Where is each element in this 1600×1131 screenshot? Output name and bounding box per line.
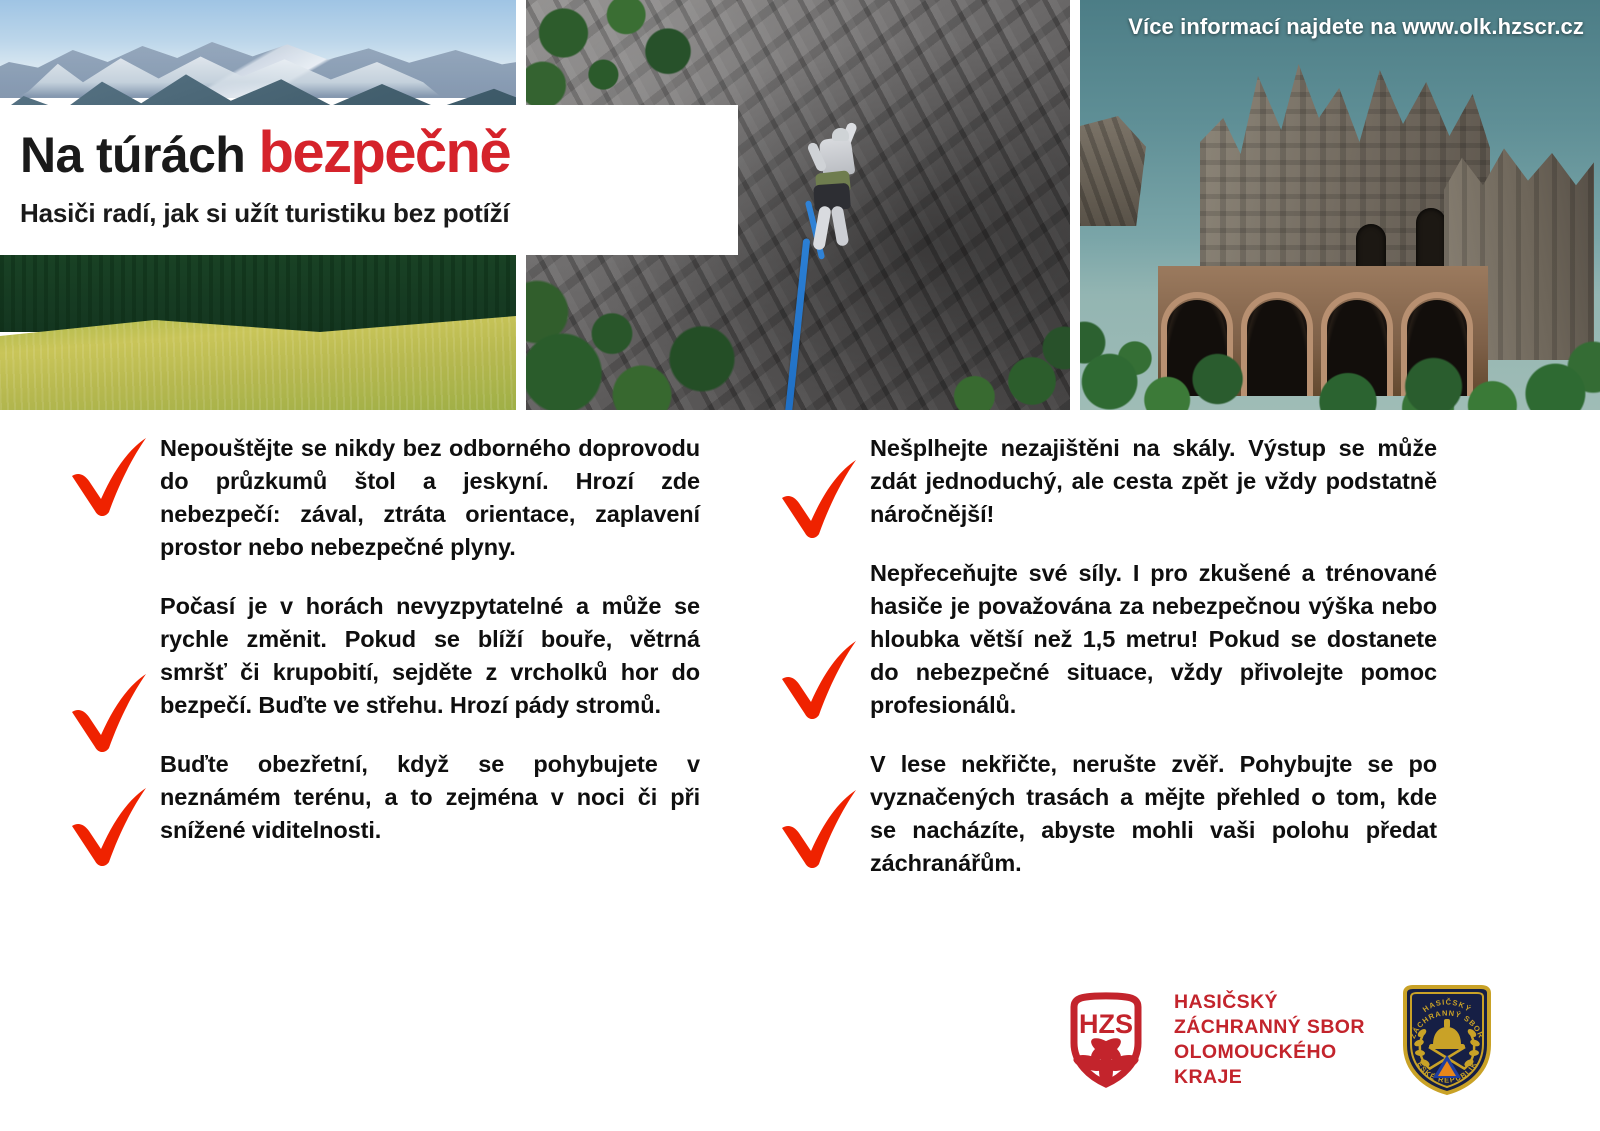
- checkmark-icon: [60, 748, 160, 832]
- tip-text: V lese nekřičte, nerušte zvěř. Pohybujte…: [870, 748, 1437, 880]
- climber-shorts: [813, 183, 851, 211]
- tip-item: Nepřeceňujte své síly. I pro zkušené a t…: [770, 557, 1490, 722]
- website-banner: Více informací najdete na www.olk.hzscr.…: [1128, 14, 1584, 40]
- checkmark-icon: [60, 590, 160, 674]
- tip-text: Buďte obezřetní, když se pohybujete v ne…: [160, 748, 700, 847]
- tip-text: Nepřeceňujte své síly. I pro zkušené a t…: [870, 557, 1437, 722]
- vegetation-bottom-right: [920, 304, 1070, 410]
- organisation-name: HASIČSKÝ ZÁCHRANNÝ SBOR OLOMOUCKÉHO KRAJ…: [1174, 990, 1365, 1090]
- climber-figure: [808, 128, 870, 260]
- org-line-3: OLOMOUCKÉHO: [1174, 1040, 1365, 1065]
- climber-right-leg: [831, 205, 850, 246]
- tip-item: Počasí je v horách nevyzpytatelné a může…: [60, 590, 780, 722]
- hzs-cr-badge-icon: HASIČSKÝ ZÁCHRANNÝ SBOR ČESKÉ REPUBLIKY: [1399, 983, 1495, 1097]
- tip-item: V lese nekřičte, nerušte zvěř. Pohybujte…: [770, 748, 1490, 880]
- title-card: Na túrách bezpečně Hasiči radí, jak si u…: [0, 105, 738, 255]
- org-line-4: KRAJE: [1174, 1065, 1365, 1090]
- ruin-window: [1416, 208, 1446, 270]
- checkmark-icon: [60, 432, 160, 522]
- flower-petals-icon: [1072, 1034, 1140, 1087]
- climber-left-leg: [812, 205, 831, 250]
- title-first-part: Na túrách: [20, 127, 259, 183]
- foliage-left: [1080, 288, 1250, 410]
- tips-column-right: Nešplhejte nezajištěni na skály. Výstup …: [770, 432, 1490, 906]
- poster-subtitle: Hasiči radí, jak si užít turistiku bez p…: [20, 198, 738, 229]
- checkmark-icon: [770, 432, 870, 516]
- tip-item: Nepouštějte se nikdy bez odborného dopro…: [60, 432, 780, 564]
- checkmark-icon: [770, 557, 870, 641]
- tips-column-left: Nepouštějte se nikdy bez odborného dopro…: [60, 432, 780, 873]
- tip-text: Nešplhejte nezajištěni na skály. Výstup …: [870, 432, 1437, 531]
- tip-item: Nešplhejte nezajištěni na skály. Výstup …: [770, 432, 1490, 531]
- vegetation-bottom-left: [526, 240, 762, 410]
- org-line-2: ZÁCHRANNÝ SBOR: [1174, 1015, 1365, 1040]
- climber-helmet: [832, 128, 849, 141]
- org-line-1: HASIČSKÝ: [1174, 990, 1365, 1015]
- tip-item: Buďte obezřetní, když se pohybujete v ne…: [60, 748, 780, 847]
- hzs-shield-logo-icon: HZS: [1060, 991, 1152, 1089]
- tip-text: Nepouštějte se nikdy bez odborného dopro…: [160, 432, 700, 564]
- tip-text: Počasí je v horách nevyzpytatelné a může…: [160, 590, 700, 722]
- footer-logos: HZS HASIČSKÝ ZÁCHRANNÝ SBOR OLOMOUCKÉHO …: [1060, 975, 1540, 1105]
- poster-title: Na túrách bezpečně: [20, 123, 738, 184]
- hzs-monogram: HZS: [1079, 1009, 1133, 1039]
- checkmark-icon: [770, 748, 870, 832]
- stone-ruins-photo: Více informací najdete na www.olk.hzscr.…: [1080, 0, 1600, 410]
- title-accent-word: bezpečně: [259, 120, 511, 185]
- foliage-right: [1400, 300, 1600, 410]
